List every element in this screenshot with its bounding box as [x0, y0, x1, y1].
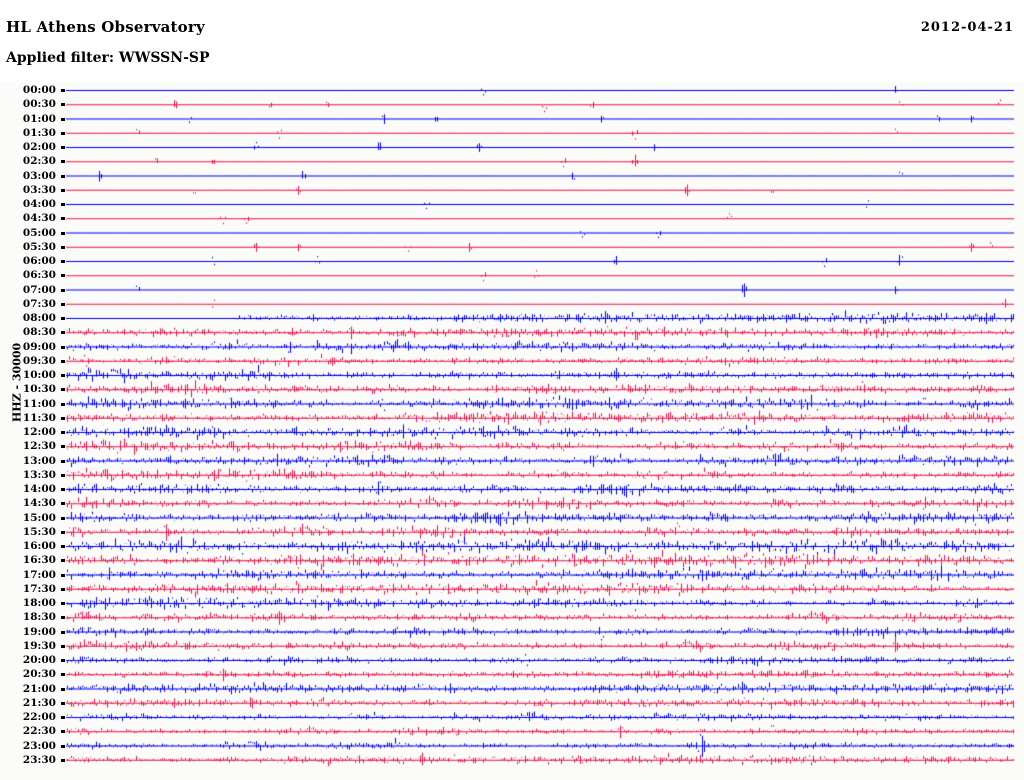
time-axis-label: 06:00 — [23, 256, 56, 267]
time-axis-tick — [61, 631, 65, 634]
time-axis-tick — [61, 431, 65, 434]
time-axis-tick — [61, 517, 65, 520]
time-axis-tick — [61, 346, 65, 349]
time-axis-tick — [61, 289, 65, 292]
time-axis-tick — [61, 730, 65, 733]
time-axis-tick — [61, 317, 65, 320]
time-axis-label: 07:30 — [23, 299, 56, 310]
time-axis-label: 21:00 — [23, 684, 56, 695]
time-axis-label: 00:00 — [23, 85, 56, 96]
page-title: HL Athens Observatory — [6, 18, 205, 36]
time-axis-tick — [61, 474, 65, 477]
time-axis-label: 23:00 — [23, 741, 56, 752]
time-axis-label: 03:00 — [23, 171, 56, 182]
time-axis-tick — [61, 89, 65, 92]
recording-date: 2012-04-21 — [921, 20, 1014, 35]
time-axis-tick — [61, 602, 65, 605]
time-axis-label: 08:30 — [23, 327, 56, 338]
time-axis-tick — [61, 146, 65, 149]
time-axis-label: 21:30 — [23, 698, 56, 709]
time-axis-tick — [61, 232, 65, 235]
time-axis-label: 12:00 — [23, 427, 56, 438]
time-axis-label: 18:30 — [23, 612, 56, 623]
time-axis-label: 11:00 — [23, 399, 56, 410]
time-axis-label: 10:30 — [23, 384, 56, 395]
time-axis-label: 22:00 — [23, 712, 56, 723]
time-axis-label: 04:30 — [23, 213, 56, 224]
time-axis-label: 08:00 — [23, 313, 56, 324]
time-axis-label: 12:30 — [23, 441, 56, 452]
time-axis-label: 15:30 — [23, 527, 56, 538]
time-axis-tick — [61, 118, 65, 121]
time-axis-tick — [61, 588, 65, 591]
time-axis-tick — [61, 659, 65, 662]
time-axis-label: 09:00 — [23, 342, 56, 353]
applied-filter-label: Applied filter: WWSSN-SP — [6, 50, 210, 66]
time-axis-label: 06:30 — [23, 270, 56, 281]
time-axis-label: 05:00 — [23, 228, 56, 239]
time-axis-label: 14:30 — [23, 498, 56, 509]
time-axis-label: 18:00 — [23, 598, 56, 609]
time-axis-label: 22:30 — [23, 726, 56, 737]
time-axis-tick — [61, 445, 65, 448]
time-axis-tick — [61, 645, 65, 648]
time-axis-label: 13:00 — [23, 456, 56, 467]
time-axis-label: 17:30 — [23, 584, 56, 595]
time-axis-tick — [61, 260, 65, 263]
time-axis-tick — [61, 103, 65, 106]
time-axis-tick — [61, 246, 65, 249]
time-axis-tick — [61, 388, 65, 391]
time-axis-tick — [61, 502, 65, 505]
time-axis-label: 02:00 — [23, 142, 56, 153]
time-axis-label: 03:30 — [23, 185, 56, 196]
time-axis-tick — [61, 702, 65, 705]
time-axis-tick — [61, 217, 65, 220]
time-axis-label: 13:30 — [23, 470, 56, 481]
time-axis-label: 20:00 — [23, 655, 56, 666]
time-axis-label: 09:30 — [23, 356, 56, 367]
time-axis-tick — [61, 274, 65, 277]
time-axis-label: 02:30 — [23, 156, 56, 167]
time-axis-label: 19:30 — [23, 641, 56, 652]
time-axis-tick — [61, 574, 65, 577]
time-axis-tick — [61, 716, 65, 719]
time-axis-tick — [61, 403, 65, 406]
time-axis-tick — [61, 175, 65, 178]
time-axis-tick — [61, 688, 65, 691]
time-axis-label: 00:30 — [23, 99, 56, 110]
time-axis-tick — [61, 303, 65, 306]
time-axis-tick — [61, 189, 65, 192]
time-axis-tick — [61, 460, 65, 463]
time-axis-label: 15:00 — [23, 513, 56, 524]
time-axis-label: 17:00 — [23, 570, 56, 581]
time-axis-tick — [61, 559, 65, 562]
seismogram-plot-area — [66, 84, 1016, 774]
time-axis-tick — [61, 331, 65, 334]
time-axis-label: 19:00 — [23, 627, 56, 638]
time-axis-tick — [61, 203, 65, 206]
time-axis-tick — [61, 132, 65, 135]
time-axis-tick — [61, 545, 65, 548]
time-axis-label: 01:00 — [23, 114, 56, 125]
time-axis-label: 20:30 — [23, 669, 56, 680]
time-axis-tick — [61, 616, 65, 619]
time-axis-label: 16:30 — [23, 555, 56, 566]
time-axis-tick — [61, 759, 65, 762]
seismogram-page: HL Athens Observatory 2012-04-21 Applied… — [0, 0, 1024, 780]
time-axis: 00:0000:3001:0001:3002:0002:3003:0003:30… — [0, 84, 66, 774]
time-axis-label: 07:00 — [23, 285, 56, 296]
time-axis-tick — [61, 745, 65, 748]
time-axis-label: 23:30 — [23, 755, 56, 766]
time-axis-tick — [61, 488, 65, 491]
time-axis-label: 01:30 — [23, 128, 56, 139]
time-axis-tick — [61, 673, 65, 676]
time-axis-tick — [61, 160, 65, 163]
time-axis-label: 05:30 — [23, 242, 56, 253]
time-axis-label: 14:00 — [23, 484, 56, 495]
time-axis-label: 10:00 — [23, 370, 56, 381]
time-axis-label: 16:00 — [23, 541, 56, 552]
time-axis-tick — [61, 374, 65, 377]
time-axis-tick — [61, 531, 65, 534]
time-axis-tick — [61, 360, 65, 363]
time-axis-label: 11:30 — [23, 413, 56, 424]
time-axis-label: 04:00 — [23, 199, 56, 210]
time-axis-tick — [61, 417, 65, 420]
